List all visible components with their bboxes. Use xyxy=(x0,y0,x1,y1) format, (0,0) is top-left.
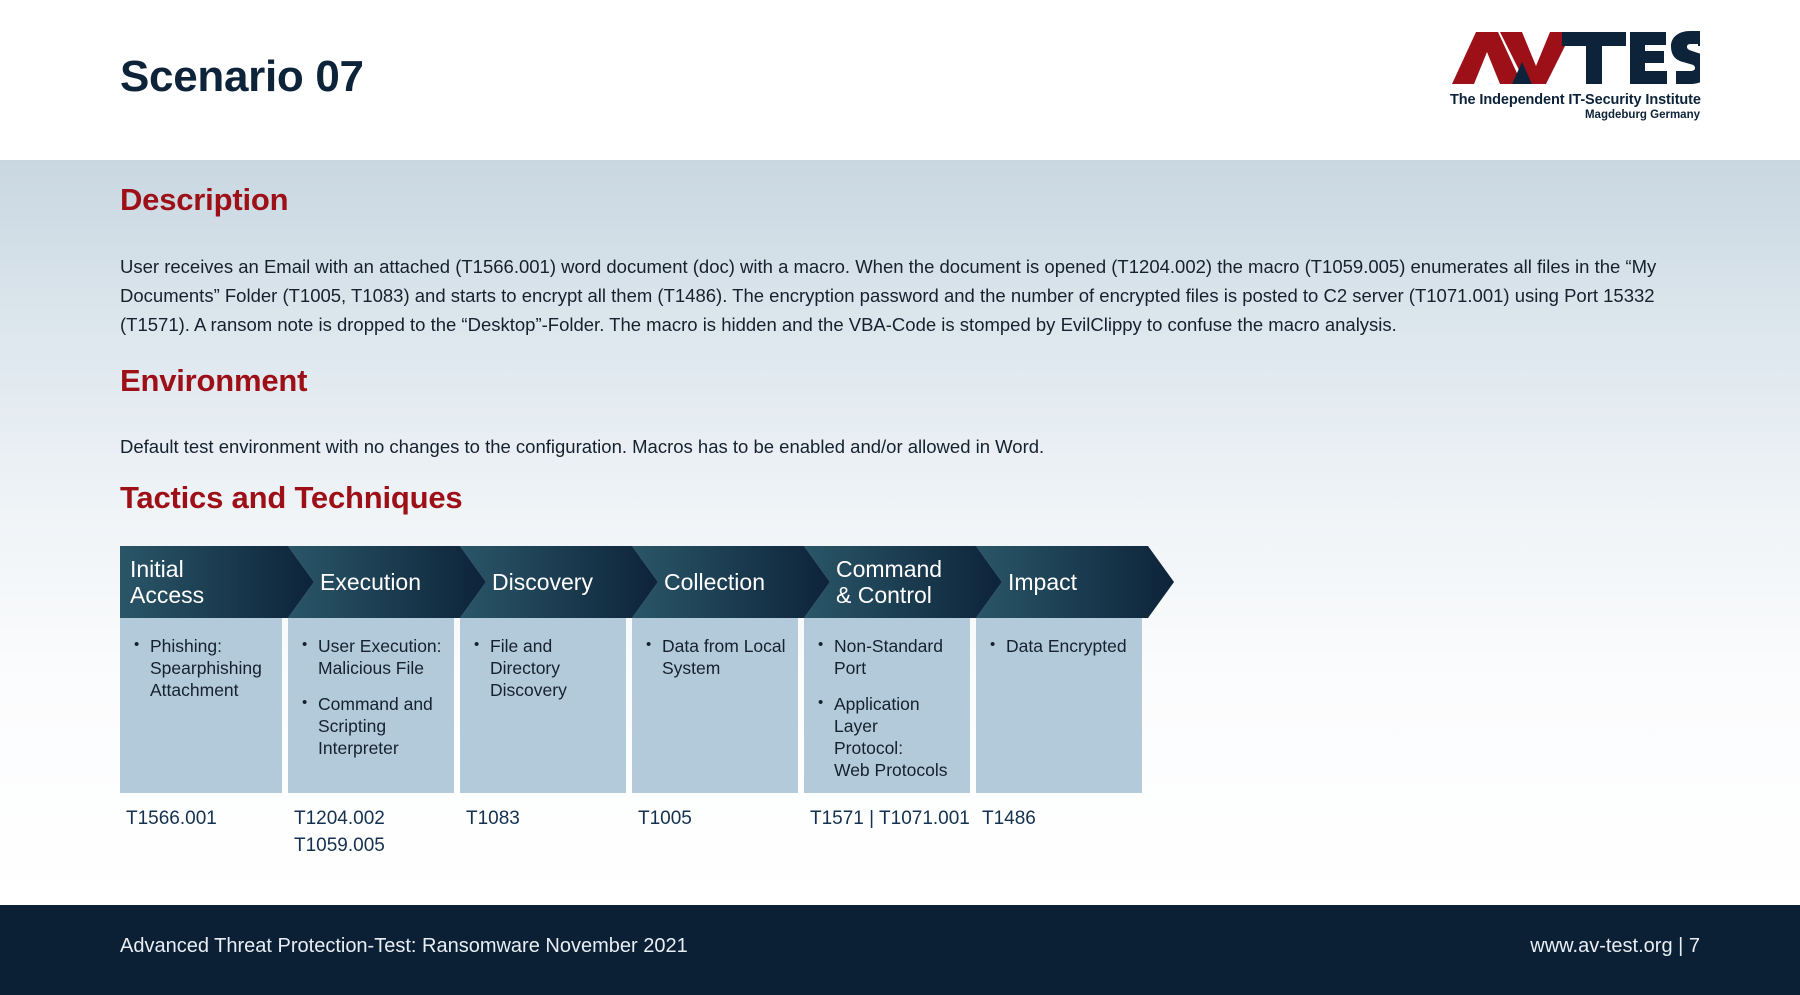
technique-cell[interactable]: File and Directory Discovery xyxy=(460,618,626,793)
slide-header: Scenario 07 The Independent IT-Security … xyxy=(0,0,1800,160)
description-text: User receives an Email with an attached … xyxy=(120,252,1680,339)
environment-heading: Environment xyxy=(120,363,307,399)
slide: Scenario 07 The Independent IT-Security … xyxy=(0,0,1800,995)
technique-item: Phishing: Spearphishing Attachment xyxy=(132,635,270,701)
page-title: Scenario 07 xyxy=(120,52,364,102)
tactic-label: Initial Access xyxy=(120,556,314,608)
tactic-chevron[interactable]: Execution xyxy=(288,546,486,618)
slide-footer: Advanced Threat Protection-Test: Ransomw… xyxy=(0,905,1800,995)
technique-list: Data from Local System xyxy=(644,635,786,679)
tactic-chevron[interactable]: Discovery xyxy=(460,546,658,618)
techniques-row: Phishing: Spearphishing AttachmentUser E… xyxy=(120,618,1300,793)
technique-item: Data Encrypted xyxy=(988,635,1130,657)
technique-ids-row: T1566.001T1204.002 T1059.005T1083T1005T1… xyxy=(120,805,1300,875)
environment-text: Default test environment with no changes… xyxy=(120,432,1044,461)
logo-tagline: The Independent IT-Security Institute xyxy=(1450,92,1700,108)
technique-cell[interactable]: Data from Local System xyxy=(632,618,798,793)
technique-item: Non-Standard Port xyxy=(816,635,958,679)
technique-list: Phishing: Spearphishing Attachment xyxy=(132,635,270,701)
technique-list: File and Directory Discovery xyxy=(472,635,614,701)
tactic-label: Command & Control xyxy=(804,556,1002,608)
tactic-chevron[interactable]: Initial Access xyxy=(120,546,314,618)
technique-list: User Execution: Malicious FileCommand an… xyxy=(300,635,442,759)
technique-list: Non-Standard PortApplication Layer Proto… xyxy=(816,635,958,781)
tactic-chevron[interactable]: Command & Control xyxy=(804,546,1002,618)
technique-list: Data Encrypted xyxy=(988,635,1130,657)
tactics-chevron-row: Initial AccessExecutionDiscoveryCollecti… xyxy=(120,546,1300,618)
technique-item: Application Layer Protocol: Web Protocol… xyxy=(816,693,958,781)
footer-url-page: www.av-test.org | 7 xyxy=(1530,935,1700,958)
tactics-heading: Tactics and Techniques xyxy=(120,480,462,516)
slide-content: Description User receives an Email with … xyxy=(120,160,1720,905)
technique-cell[interactable]: User Execution: Malicious FileCommand an… xyxy=(288,618,454,793)
technique-cell[interactable]: Data Encrypted xyxy=(976,618,1142,793)
technique-item: Command and Scripting Interpreter xyxy=(300,693,442,759)
technique-cell[interactable]: Phishing: Spearphishing Attachment xyxy=(120,618,282,793)
tactic-label: Execution xyxy=(288,569,486,595)
tactic-label: Impact xyxy=(976,569,1174,595)
technique-item: User Execution: Malicious File xyxy=(300,635,442,679)
av-test-logo-icon xyxy=(1450,28,1700,90)
technique-item: File and Directory Discovery xyxy=(472,635,614,701)
technique-id: T1486 xyxy=(982,805,1194,832)
tactic-label: Discovery xyxy=(460,569,658,595)
technique-cell[interactable]: Non-Standard PortApplication Layer Proto… xyxy=(804,618,970,793)
footer-title: Advanced Threat Protection-Test: Ransomw… xyxy=(120,935,688,958)
technique-item: Data from Local System xyxy=(644,635,786,679)
tactics-table: Initial AccessExecutionDiscoveryCollecti… xyxy=(120,546,1300,875)
description-heading: Description xyxy=(120,182,288,218)
av-test-logo: The Independent IT-Security Institute Ma… xyxy=(1450,28,1700,121)
tactic-chevron[interactable]: Impact xyxy=(976,546,1174,618)
logo-location: Magdeburg Germany xyxy=(1450,109,1700,121)
tactic-chevron[interactable]: Collection xyxy=(632,546,830,618)
tactic-label: Collection xyxy=(632,569,830,595)
